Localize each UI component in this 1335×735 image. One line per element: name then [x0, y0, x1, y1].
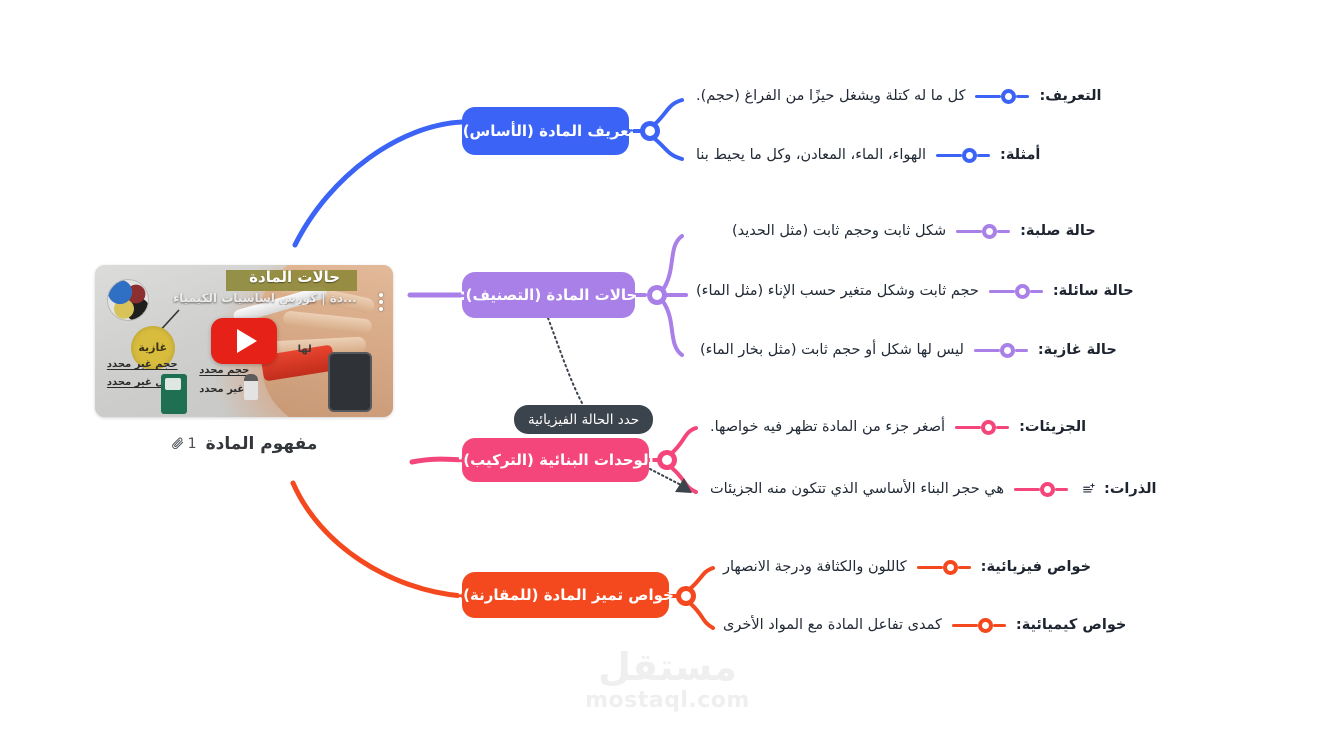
branch-node-states[interactable]: حالات المادة (التصنيف):	[462, 272, 635, 318]
leaf-states-gas[interactable]: حالة غازية: ليس لها شكل أو حجم ثابت (مثل…	[700, 342, 1117, 358]
tooltip-physical-state: حدد الحالة الفيزيائية	[514, 405, 653, 434]
leaf-connector-icon	[1014, 482, 1068, 497]
branch-node-definition[interactable]: تعريف المادة (الأساس):	[462, 107, 629, 155]
leaf-text: كاللون والكثافة ودرجة الانصهار	[723, 559, 907, 575]
watermark: مستقل mostaql.com	[0, 648, 1335, 713]
attachment-count-value: 1	[188, 436, 197, 452]
center-node-label[interactable]: مفهوم المادة 1	[95, 434, 393, 454]
leaf-connector-icon	[956, 224, 1010, 239]
leaf-text: الهواء، الماء، المعادن، وكل ما يحيط بنا	[696, 147, 926, 163]
watermark-latin: mostaql.com	[0, 688, 1335, 713]
leaf-properties-physical[interactable]: خواص فيزيائية: كاللون والكثافة ودرجة الا…	[723, 559, 1091, 575]
leaf-title: الجزيئات:	[1019, 419, 1086, 435]
mid-volume-label: حجم محدد	[199, 365, 249, 376]
mid-shape-label: غير محدد	[199, 384, 244, 395]
leaf-units-atoms[interactable]: الذرات: هي حجر البناء الأساسي الذي تتكون…	[710, 481, 1157, 497]
leaf-title: الذرات:	[1104, 481, 1156, 497]
leaf-definition-1[interactable]: التعريف: كل ما له كتلة ويشغل حيزًا من ال…	[696, 88, 1102, 104]
leaf-connector-icon	[936, 148, 990, 163]
leaf-text: هي حجر البناء الأساسي الذي تتكون منه الج…	[710, 481, 1004, 497]
leaf-connector-icon	[952, 618, 1006, 633]
leaf-connector-icon	[917, 560, 971, 575]
leaf-units-molecules[interactable]: الجزيئات: أصغر جزء من المادة تظهر فيه خو…	[710, 419, 1086, 435]
leaf-connector-icon	[974, 343, 1028, 358]
center-node-title: مفهوم المادة	[206, 434, 318, 454]
leaf-properties-chemical[interactable]: خواص كيميائية: كمدى تفاعل المادة مع المو…	[723, 617, 1126, 633]
leaf-title: حالة صلبة:	[1020, 223, 1096, 239]
youtube-play-icon[interactable]	[211, 318, 277, 364]
leaf-title: خواص كيميائية:	[1016, 617, 1126, 633]
branch-node-properties[interactable]: خواص تميز المادة (للمقارنة):	[462, 572, 669, 618]
leaf-text: ليس لها شكل أو حجم ثابت (مثل بخار الماء)	[700, 342, 964, 358]
leaf-title: التعريف:	[1039, 88, 1101, 104]
person-figure	[244, 374, 258, 400]
leaf-connector-icon	[975, 89, 1029, 104]
leaf-title: حالة غازية:	[1038, 342, 1117, 358]
paperclip-icon	[171, 437, 185, 451]
leaf-text: شكل ثابت وحجم ثابت (مثل الحديد)	[732, 223, 946, 239]
notes-add-icon[interactable]	[1082, 482, 1096, 496]
branch-node-building-units[interactable]: الوحدات البنائية (التركيب):	[462, 438, 649, 482]
leaf-definition-2[interactable]: أمثلة: الهواء، الماء، المعادن، وكل ما يح…	[696, 147, 1040, 163]
leaf-text: أصغر جزء من المادة تظهر فيه خواصها.	[710, 419, 945, 435]
leaf-states-liquid[interactable]: حالة سائلة: حجم ثابت وشكل متغير حسب الإن…	[696, 283, 1134, 299]
leaf-connector-icon	[955, 420, 1009, 435]
leaf-title: أمثلة:	[1000, 147, 1040, 163]
video-thumbnail-card[interactable]: غازية حجم غير محدد شكل غير محدد حجم محدد…	[95, 265, 393, 417]
video-subtitle: ...دة | كورس اساسيات الكيمياء	[172, 291, 357, 305]
leaf-text: كل ما له كتلة ويشغل حيزًا من الفراغ (حجم…	[696, 88, 965, 104]
mindmap-canvas: غازية حجم غير محدد شكل غير محدد حجم محدد…	[0, 0, 1335, 735]
leaf-text: حجم ثابت وشكل متغير حسب الإناء (مثل الما…	[696, 283, 979, 299]
video-title: حالات المادة	[229, 268, 360, 286]
leaf-title: خواص فيزيائية:	[981, 559, 1091, 575]
leaf-states-solid[interactable]: حالة صلبة: شكل ثابت وحجم ثابت (مثل الحدي…	[732, 223, 1096, 239]
leaf-text: كمدى تفاعل المادة مع المواد الأخرى	[723, 617, 942, 633]
leaf-title: حالة سائلة:	[1053, 283, 1134, 299]
gas-pump-figure	[161, 374, 187, 414]
attachment-count[interactable]: 1	[171, 436, 197, 452]
kebab-menu-icon[interactable]	[379, 293, 383, 311]
watermark-arabic: مستقل	[0, 648, 1335, 686]
right-partial-label: لها	[298, 344, 312, 355]
phone-shape	[328, 352, 372, 412]
collage-thumb-icon	[107, 279, 149, 321]
gas-volume-label: حجم غير محدد	[107, 359, 178, 370]
leaf-connector-icon	[989, 284, 1043, 299]
